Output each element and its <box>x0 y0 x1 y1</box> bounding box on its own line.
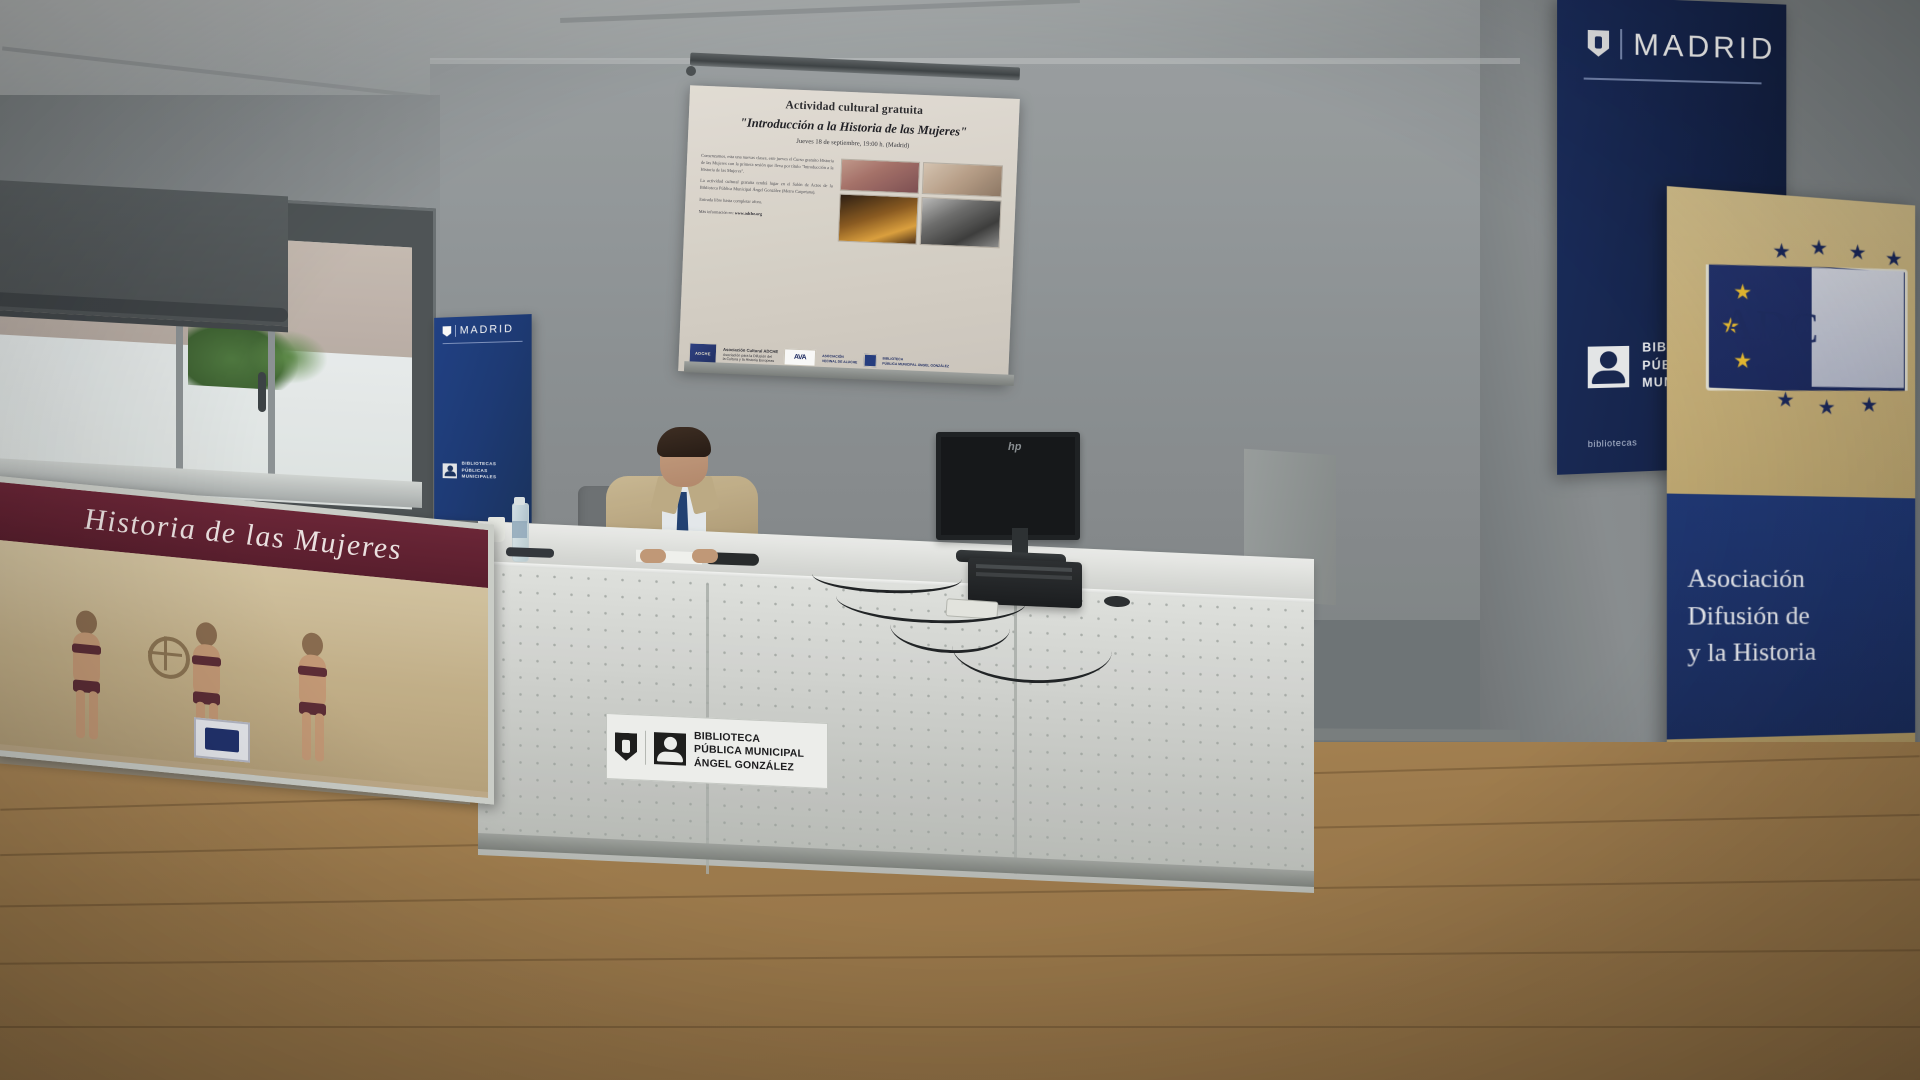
banner-right-header: MADRID <box>1557 0 1786 67</box>
star-icon-1: ★ <box>1772 240 1791 262</box>
star-icon-4: ★ <box>1885 248 1903 270</box>
logo-ava-mark: AVA <box>784 348 817 366</box>
poster-figure-1 <box>64 608 110 743</box>
poster-figure-3 <box>290 631 336 766</box>
poster-adche-seal <box>194 717 250 762</box>
star-icon-gold-3: ★ <box>1733 350 1752 372</box>
slide-image-1 <box>840 159 921 194</box>
madrid-shield-icon <box>443 326 452 337</box>
star-icon-3: ★ <box>1849 242 1867 264</box>
slide-paragraph-2: La actividad cultural gratuita tendrá lu… <box>700 178 833 197</box>
slide-image-grid <box>837 159 1003 249</box>
water-bottle-cap[interactable] <box>514 497 525 505</box>
adche-wordmark: ADC <box>1722 298 1820 354</box>
banner-left-lines: BIBLIOTECAS PÚBLICAS MUNICIPALES <box>462 461 497 482</box>
slide-image-2 <box>922 162 1003 197</box>
banner-right-smalltext: bibliotecas <box>1588 437 1638 449</box>
floor-plank-3 <box>0 879 1920 908</box>
slide-url: www.adche.org <box>735 210 763 216</box>
monitor-brand-label: hp <box>1008 441 1021 453</box>
madrid-shield-icon-large <box>1588 30 1609 57</box>
speaker-hand-left <box>640 549 666 563</box>
slide-image-3 <box>837 194 919 245</box>
madrid-shield-icon-sign <box>615 732 637 761</box>
banner-adche-top: ★ ★ ★ ★ ★ ★ ★ ADC ★ ★ ★ <box>1667 186 1915 498</box>
desk-sign-text: BIBLIOTECA PÚBLICA MUNICIPAL ÁNGEL GONZÁ… <box>694 730 804 775</box>
star-icon-6: ★ <box>1818 397 1836 419</box>
banner-left-header: MADRID <box>434 314 531 337</box>
star-icon-2: ★ <box>1810 237 1828 259</box>
slide-text-column: Comenzamos, esta una nuevas clases, este… <box>698 153 834 241</box>
speaker-hair <box>657 427 711 457</box>
star-icon-5: ★ <box>1776 389 1795 411</box>
banner-adche-line1: Asociación <box>1687 560 1915 598</box>
banner-right-divider <box>1620 29 1622 59</box>
logo-ava-text: ASOCIACIÓN VECINAL DE ALUCHE <box>822 354 858 364</box>
logo-adche-text: Asociación Cultural ADCHE Asociación par… <box>723 347 779 365</box>
star-icon-7: ★ <box>1860 395 1878 416</box>
slide-paragraph-1: Comenzamos, esta una nuevas clases, este… <box>700 153 833 179</box>
library-reader-icon <box>443 463 457 478</box>
floor-plank-4 <box>0 949 1920 964</box>
logo-bpm-mark <box>863 354 877 368</box>
slide-url-label: Más información en: <box>699 209 734 215</box>
banner-left-divider <box>455 325 456 337</box>
water-bottle-label <box>512 521 527 538</box>
banner-adche-line2: Difusión de <box>1687 598 1915 636</box>
banner-left-footer: BIBLIOTECAS PÚBLICAS MUNICIPALES <box>443 460 497 481</box>
logo-ava-sub2: VECINAL DE ALUCHE <box>822 358 858 364</box>
banner-left-line3: MUNICIPALES <box>462 474 497 481</box>
wall-ledge <box>430 58 1520 64</box>
adche-logo: ★ ★ ★ ★ ★ ★ ★ ADC ★ ★ ★ <box>1706 234 1902 414</box>
window-door-handle[interactable] <box>258 372 266 412</box>
library-reader-icon-large <box>1588 346 1629 388</box>
banner-adche-text-block: Asociación Difusión de y la Historia <box>1667 494 1915 740</box>
adche-book-page <box>1812 265 1904 390</box>
microphone-secondary[interactable] <box>506 547 554 558</box>
logo-bpm-text: BIBLIOTECA PÚBLICA MUNICIPAL ÁNGEL GONZÁ… <box>882 357 949 368</box>
banner-madrid-left: MADRID BIBLIOTECAS PÚBLICAS MUNICIPALES <box>434 314 531 523</box>
banner-adche-line3: y la Historia <box>1687 634 1915 673</box>
floor-plank-5 <box>0 1026 1920 1028</box>
library-reader-icon-sign <box>654 732 686 765</box>
poster-historia-mujeres: Historia de las Mujeres <box>0 475 494 804</box>
slide-paragraph-3: Entrada libre hasta completar aforo. <box>699 197 832 209</box>
banner-right-city: MADRID <box>1633 27 1776 68</box>
banner-left-city: MADRID <box>460 323 514 337</box>
speaker-hand-right <box>692 549 718 563</box>
slide-body: Comenzamos, esta una nuevas clases, este… <box>698 153 1003 249</box>
photo-scene: Actividad cultural gratuita "Introducció… <box>0 0 1920 1080</box>
banner-left-rule <box>443 341 523 344</box>
desk-sign-divider <box>645 731 646 765</box>
slide-url-line: Más información en: www.adche.org <box>699 209 832 221</box>
projection-screen-rail-end <box>686 66 696 76</box>
projected-slide: Actividad cultural gratuita "Introducció… <box>678 85 1020 385</box>
projection-screen: Actividad cultural gratuita "Introducció… <box>678 85 1020 385</box>
banner-right-rule <box>1584 78 1762 85</box>
desk-sign: BIBLIOTECA PÚBLICA MUNICIPAL ÁNGEL GONZÁ… <box>606 713 828 789</box>
slide-image-4 <box>920 197 1002 248</box>
